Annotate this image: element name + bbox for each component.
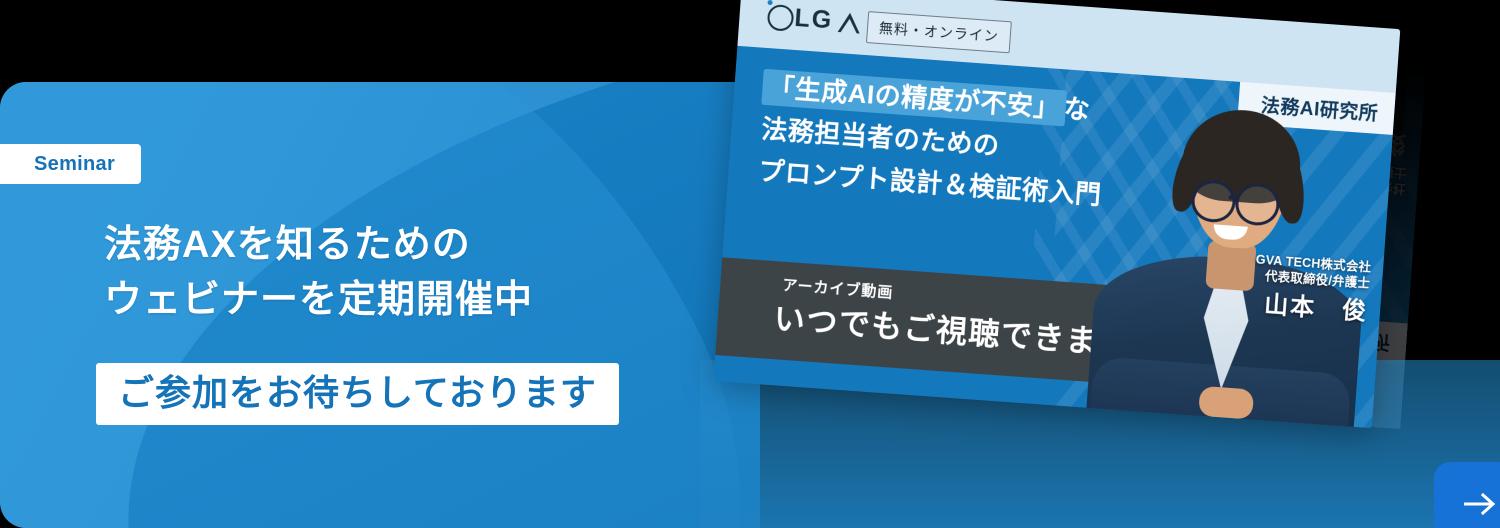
card-body: LG 無料・オンライン 法務AI研究所 「生成AIの精度が不安」な 法務担当者の… — [713, 0, 1400, 428]
card-title-tail: な — [1063, 93, 1092, 125]
olga-logo-text: LG — [793, 4, 834, 36]
seminar-thumbnail-card[interactable]: LG 無料・オンライン 法務AI研究所 「生成AIの精度が不安」な 法務担当者の… — [713, 0, 1400, 428]
arrow-right-icon — [1460, 491, 1500, 517]
hero-headline-line-1: 法務AXを知るための — [104, 218, 533, 273]
banner-stage: Seminar 法務AXを知るための ウェビナーを定期開催中 ご参加をお待ちして… — [0, 0, 1500, 528]
seminar-badge: Seminar — [0, 144, 141, 184]
olga-a-icon — [837, 12, 860, 34]
hero-headline-line-2: ウェビナーを定期開催中 — [104, 273, 533, 328]
next-slide-button[interactable] — [1434, 462, 1500, 528]
glasses-bridge-icon — [1229, 195, 1239, 199]
speaker-info: GVA TECH株式会社 代表取締役/弁護士 山本 俊 — [1252, 251, 1372, 327]
olga-o-icon — [767, 3, 795, 31]
speaker-photo — [1080, 60, 1380, 427]
speaker-hand — [1198, 386, 1254, 420]
hero-headline: 法務AXを知るための ウェビナーを定期開催中 — [104, 218, 533, 328]
hero-cta-text: ご参加をお待ちしております — [96, 363, 619, 425]
